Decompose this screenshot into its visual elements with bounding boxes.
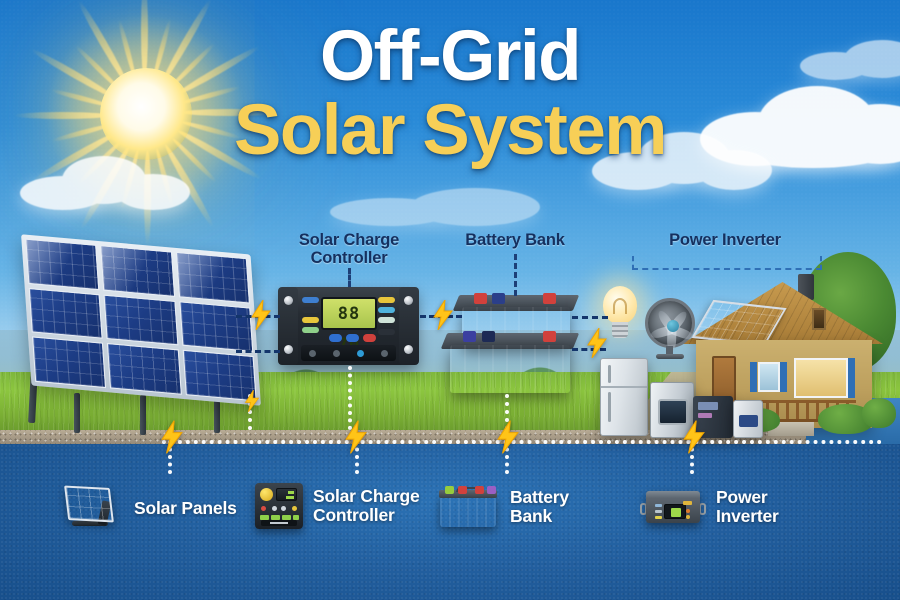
sun-icon <box>40 10 290 260</box>
fan-foot <box>656 354 684 359</box>
battery-terminal <box>475 486 484 494</box>
terminal <box>309 350 316 357</box>
mount-screw <box>284 296 293 305</box>
connector-controller-drop <box>348 268 351 287</box>
lightning-bolt-icon <box>160 420 184 454</box>
solar-charge-controller-device: 88 70 <box>279 287 418 365</box>
label-battery-bank: Battery Bank <box>440 231 590 249</box>
controller-led <box>281 506 286 511</box>
legend-label-line-1: Power <box>716 488 779 507</box>
inverter-display <box>664 504 686 519</box>
inverter-indicator <box>683 501 692 505</box>
controller-led <box>272 506 277 511</box>
controller-button[interactable] <box>329 334 342 342</box>
inverter-slot <box>655 510 662 513</box>
legend-label: Power Inverter <box>716 488 779 526</box>
connector-battery-drop <box>514 254 517 296</box>
label-solar-charge-controller: Solar Charge Controller <box>278 231 420 268</box>
array-leg <box>140 395 146 435</box>
lightning-bolt-icon <box>432 300 454 330</box>
solar-panel-grid <box>21 234 261 406</box>
controller-base <box>261 520 297 526</box>
lightning-bolt-icon <box>682 420 706 454</box>
label-line-1: Solar Charge <box>278 231 420 249</box>
legend-label-line-1: Solar Charge <box>313 487 420 506</box>
inverter-slot <box>655 516 662 519</box>
solar-cell-block <box>25 239 99 290</box>
controller-button[interactable] <box>346 334 359 342</box>
cloud-icon <box>800 38 900 82</box>
indicator-pill <box>378 297 395 303</box>
controller-dial <box>260 488 273 501</box>
lightning-bolt-icon <box>244 390 260 412</box>
bush-icon <box>862 398 896 428</box>
house-window <box>758 362 780 392</box>
mount-screw <box>404 345 413 354</box>
connector-battery-to-load-upper <box>572 316 608 319</box>
bulb-filament <box>613 298 627 314</box>
attic-window <box>812 308 826 330</box>
battery-terminal <box>445 486 454 494</box>
controller-button[interactable] <box>363 334 376 342</box>
fridge-handle <box>608 392 611 422</box>
solar-cell-block <box>104 294 178 345</box>
solar-cell-block <box>100 245 174 296</box>
label-line-2: Controller <box>278 249 420 267</box>
legend-label: Solar Panels <box>134 499 237 518</box>
connector-panels-to-controller-lower <box>236 350 280 353</box>
fridge-divider <box>601 386 647 388</box>
inverter-icon <box>640 485 706 529</box>
indicator-pill <box>302 317 319 323</box>
mount-screw <box>404 296 413 305</box>
controller-terminal-block <box>301 345 396 361</box>
window-shutter <box>848 358 855 398</box>
battery-terminal <box>474 293 487 304</box>
legend-label-line-2: Controller <box>313 506 420 525</box>
battery-terminal <box>463 331 476 342</box>
computer-indicator <box>698 413 712 418</box>
controller-lcd-display: 88 70 <box>321 297 377 330</box>
mount-screw <box>284 345 293 354</box>
refrigerator-icon <box>600 358 648 436</box>
inverter-body <box>646 491 700 523</box>
battery-body <box>440 494 496 527</box>
off-grid-solar-system-infographic: Off-Grid Solar System 88 70 <box>0 0 900 600</box>
cloud-icon <box>20 152 190 210</box>
legend-item-solar-charge-controller[interactable]: Solar Charge Controller <box>255 483 420 529</box>
indicator-pill <box>302 327 319 333</box>
window-shutter <box>750 362 757 392</box>
label-line-1: Battery Bank <box>440 231 590 249</box>
inverter-led <box>686 515 690 519</box>
charge-controller-icon <box>255 483 303 529</box>
house-picture-window <box>794 358 848 398</box>
panel-surface <box>64 486 114 523</box>
inverter-slot <box>655 504 662 507</box>
solar-cell-block <box>179 301 253 352</box>
legend-item-battery-bank[interactable]: Battery Bank <box>438 485 569 529</box>
controller-led <box>292 506 297 511</box>
fridge-handle <box>608 365 611 383</box>
terminal <box>333 350 340 357</box>
legend-label: Solar Charge Controller <box>313 487 420 525</box>
indicator-pill <box>302 297 319 303</box>
solar-cell-block <box>32 337 106 388</box>
window-shutter <box>780 362 787 392</box>
battery-lower <box>450 333 570 393</box>
sun-core <box>100 68 192 160</box>
indicator-pill <box>378 317 395 323</box>
controller-led <box>261 506 266 511</box>
computer-screen <box>698 402 718 410</box>
battery-icon <box>438 485 500 529</box>
fan-cage <box>645 298 695 348</box>
cloud-icon <box>330 186 540 228</box>
terminal <box>357 350 364 357</box>
legend-item-power-inverter[interactable]: Power Inverter <box>640 485 779 529</box>
battery-terminal <box>487 486 496 494</box>
fan-icon <box>645 298 697 358</box>
indicator-pill <box>378 329 395 335</box>
solar-cell-block <box>29 288 103 339</box>
controller-display <box>276 488 297 501</box>
battery-terminal <box>543 293 556 304</box>
lightning-bolt-icon <box>250 300 272 330</box>
legend-label-line-1: Solar Panels <box>134 499 237 518</box>
indicator-pill <box>378 307 395 313</box>
legend-item-solar-panels[interactable]: Solar Panels <box>62 485 237 531</box>
battery-terminal <box>458 486 467 494</box>
solar-panel-array <box>8 245 270 435</box>
legend-label: Battery Bank <box>510 488 569 526</box>
solar-cell-block <box>176 252 250 303</box>
connector-inverter-bracket <box>632 256 822 270</box>
cloud-icon <box>592 130 772 190</box>
label-line-1: Power Inverter <box>630 231 820 249</box>
battery-terminal <box>492 293 505 304</box>
solar-panel-icon <box>62 485 124 531</box>
solar-cell-block <box>107 343 181 394</box>
legend-connector-rail <box>162 440 882 444</box>
legend-label-line-2: Inverter <box>716 507 779 526</box>
fan-hub <box>667 320 679 332</box>
battery-terminal <box>482 331 495 342</box>
legend-label-line-2: Bank <box>510 507 569 526</box>
ups-icon <box>733 400 763 438</box>
inverter-led <box>686 509 690 513</box>
ups-panel <box>739 415 758 427</box>
lightning-bolt-icon <box>496 420 520 454</box>
legend-label-line-1: Battery <box>510 488 569 507</box>
bulb-base <box>612 322 628 338</box>
lightning-bolt-icon <box>586 328 608 358</box>
indicator-pill <box>302 307 319 313</box>
lightning-bolt-icon <box>344 420 368 454</box>
array-leg <box>74 393 80 433</box>
battery-terminal <box>543 331 556 342</box>
battery-body <box>450 345 570 393</box>
terminal <box>381 350 388 357</box>
inverter-handle <box>699 503 706 515</box>
label-power-inverter: Power Inverter <box>630 231 820 249</box>
